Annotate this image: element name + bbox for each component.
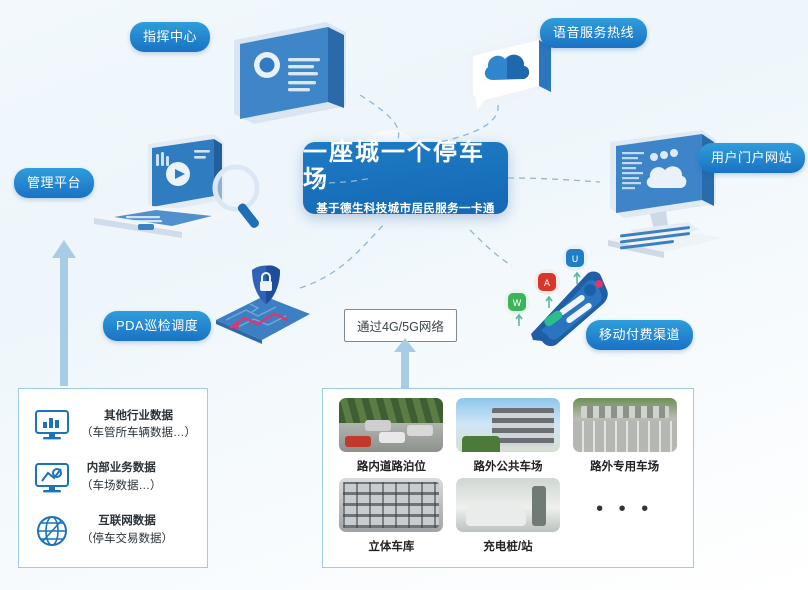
center-title-card: 一座城一个停车场 基于德生科技城市居民服务一卡通 <box>303 142 508 214</box>
label-management-platform[interactable]: 管理平台 <box>14 168 94 198</box>
svg-text:W: W <box>513 299 522 309</box>
scene-cell[interactable]: 路外专用车场 <box>566 398 683 478</box>
label-pda-patrol[interactable]: PDA巡检调度 <box>103 311 211 341</box>
monitor-graph-icon <box>33 461 71 495</box>
scene-caption: 立体车库 <box>368 538 414 554</box>
svg-text:A: A <box>544 279 551 289</box>
app-icon-alipay: A <box>534 269 560 295</box>
scene-thumbnail-charging-station <box>456 478 560 532</box>
management-laptop <box>86 132 286 252</box>
data-source-row[interactable]: 内部业务数据 （车场数据…） <box>33 460 207 496</box>
data-source-row[interactable]: 互联网数据 （停车交易数据） <box>33 513 207 549</box>
label-voice-hotline[interactable]: 语音服务热线 <box>540 18 647 48</box>
label-command-center[interactable]: 指挥中心 <box>130 22 210 52</box>
data-sources-panel: 其他行业数据 （车管所车辆数据…） 内部业务数据 （车场数据…） <box>18 388 208 568</box>
scene-thumbnail-public-lot <box>456 398 560 452</box>
scene-caption: 充电桩/站 <box>483 538 532 554</box>
scene-caption: 路内道路泊位 <box>357 458 426 474</box>
scene-cell[interactable]: 路外公共车场 <box>450 398 567 478</box>
svg-text:U: U <box>572 255 579 265</box>
app-icon-wechat: W <box>504 289 530 315</box>
pda-shield-map <box>206 258 326 348</box>
scene-cell[interactable]: 充电桩/站 <box>450 478 567 558</box>
scene-more-ellipsis: • • • <box>596 498 653 521</box>
data-source-row[interactable]: 其他行业数据 （车管所车辆数据…） <box>33 408 207 444</box>
network-up-arrow <box>392 336 418 388</box>
scene-cell[interactable]: 路内道路泊位 <box>333 398 450 478</box>
data-source-title: 互联网数据 <box>98 513 156 531</box>
data-source-detail: （车管所车辆数据…） <box>81 425 196 443</box>
globe-network-icon <box>33 514 71 548</box>
scene-cell[interactable]: 立体车库 <box>333 478 450 558</box>
line-portal <box>508 178 600 182</box>
scene-cell-more: • • • <box>566 478 683 558</box>
data-source-detail: （停车交易数据） <box>81 531 173 549</box>
page-title: 一座城一个停车场 <box>303 140 508 193</box>
scene-thumbnail-private-lot <box>573 398 677 452</box>
data-source-up-arrow <box>50 236 78 386</box>
data-source-title: 内部业务数据 <box>87 460 156 478</box>
data-source-detail: （车场数据…） <box>81 478 162 496</box>
parking-scenes-panel: 路内道路泊位 路外公共车场 路外专用车场 立体车库 充电桩/站 • • • <box>322 388 694 568</box>
app-icon-unionpay: U <box>562 245 588 271</box>
scene-caption: 路外公共车场 <box>473 458 542 474</box>
command-center-monitor <box>214 18 364 138</box>
monitor-chart-icon <box>33 408 71 442</box>
page-subtitle: 基于德生科技城市居民服务一卡通 <box>316 200 495 216</box>
data-source-title: 其他行业数据 <box>104 408 173 426</box>
scene-caption: 路外专用车场 <box>590 458 659 474</box>
label-mobile-payment[interactable]: 移动付费渠道 <box>586 320 693 350</box>
scene-thumbnail-multilevel-garage <box>339 478 443 532</box>
label-user-portal[interactable]: 用户门户网站 <box>698 143 805 173</box>
scene-thumbnail-on-street <box>339 398 443 452</box>
infographic-canvas: 一座城一个停车场 基于德生科技城市居民服务一卡通 指挥中心 <box>0 0 808 590</box>
